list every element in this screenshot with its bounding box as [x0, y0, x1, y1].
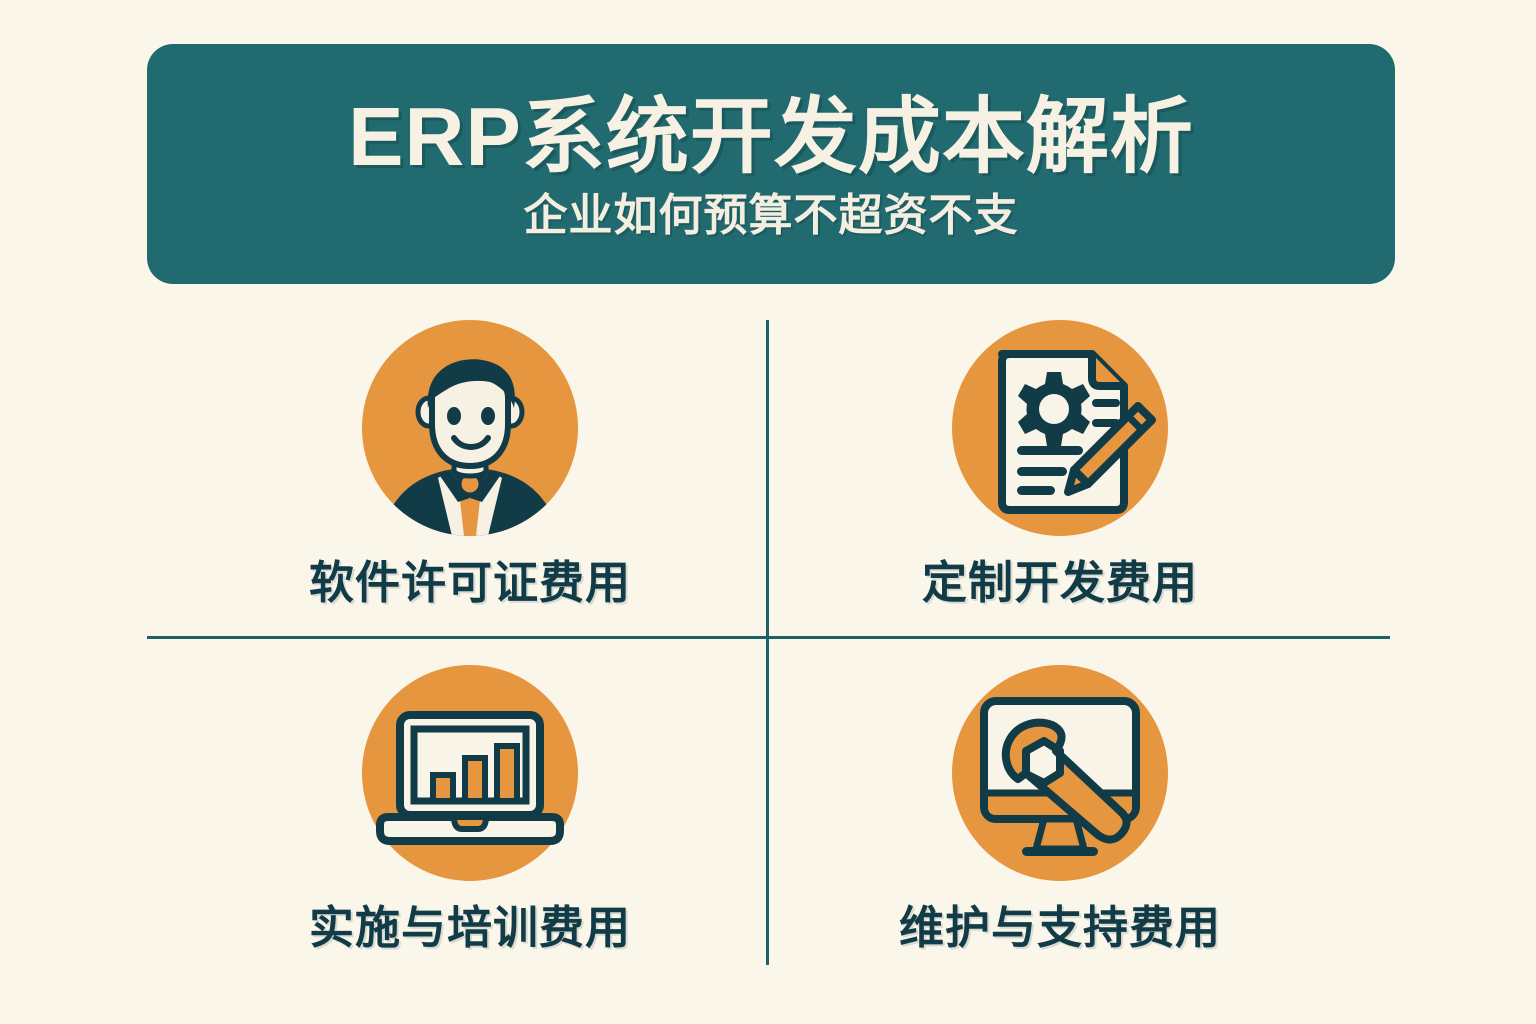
icon-badge-maintenance-support [952, 665, 1168, 881]
quadrant-label-maintenance-support: 维护与支持费用 [899, 903, 1221, 953]
icon-badge-custom-development [952, 320, 1168, 536]
document-gear-pencil-icon [952, 320, 1168, 536]
icon-badge-implementation-training [362, 665, 578, 881]
quadrant-label-implementation-training: 实施与培训费用 [309, 903, 631, 953]
page-subtitle: 企业如何预算不超资不支 [524, 194, 1019, 238]
vertical-divider [766, 320, 769, 965]
quadrant-label-software-license: 软件许可证费用 [309, 558, 631, 608]
quadrant-label-custom-development: 定制开发费用 [922, 558, 1198, 608]
quadrant-implementation-training[interactable]: 实施与培训费用 [190, 665, 750, 965]
quadrant-custom-development[interactable]: 定制开发费用 [780, 320, 1340, 620]
quadrant-software-license[interactable]: 软件许可证费用 [190, 320, 750, 620]
page-title: ERP系统开发成本解析 [348, 95, 1194, 178]
quadrant-maintenance-support[interactable]: 维护与支持费用 [780, 665, 1340, 965]
businessman-avatar-icon [362, 320, 578, 536]
header-banner: ERP系统开发成本解析 企业如何预算不超资不支 [147, 44, 1395, 284]
monitor-wrench-icon [952, 665, 1168, 881]
laptop-bar-chart-icon [362, 665, 578, 881]
infographic-canvas: ERP系统开发成本解析 企业如何预算不超资不支 [0, 0, 1536, 1024]
icon-badge-software-license [362, 320, 578, 536]
